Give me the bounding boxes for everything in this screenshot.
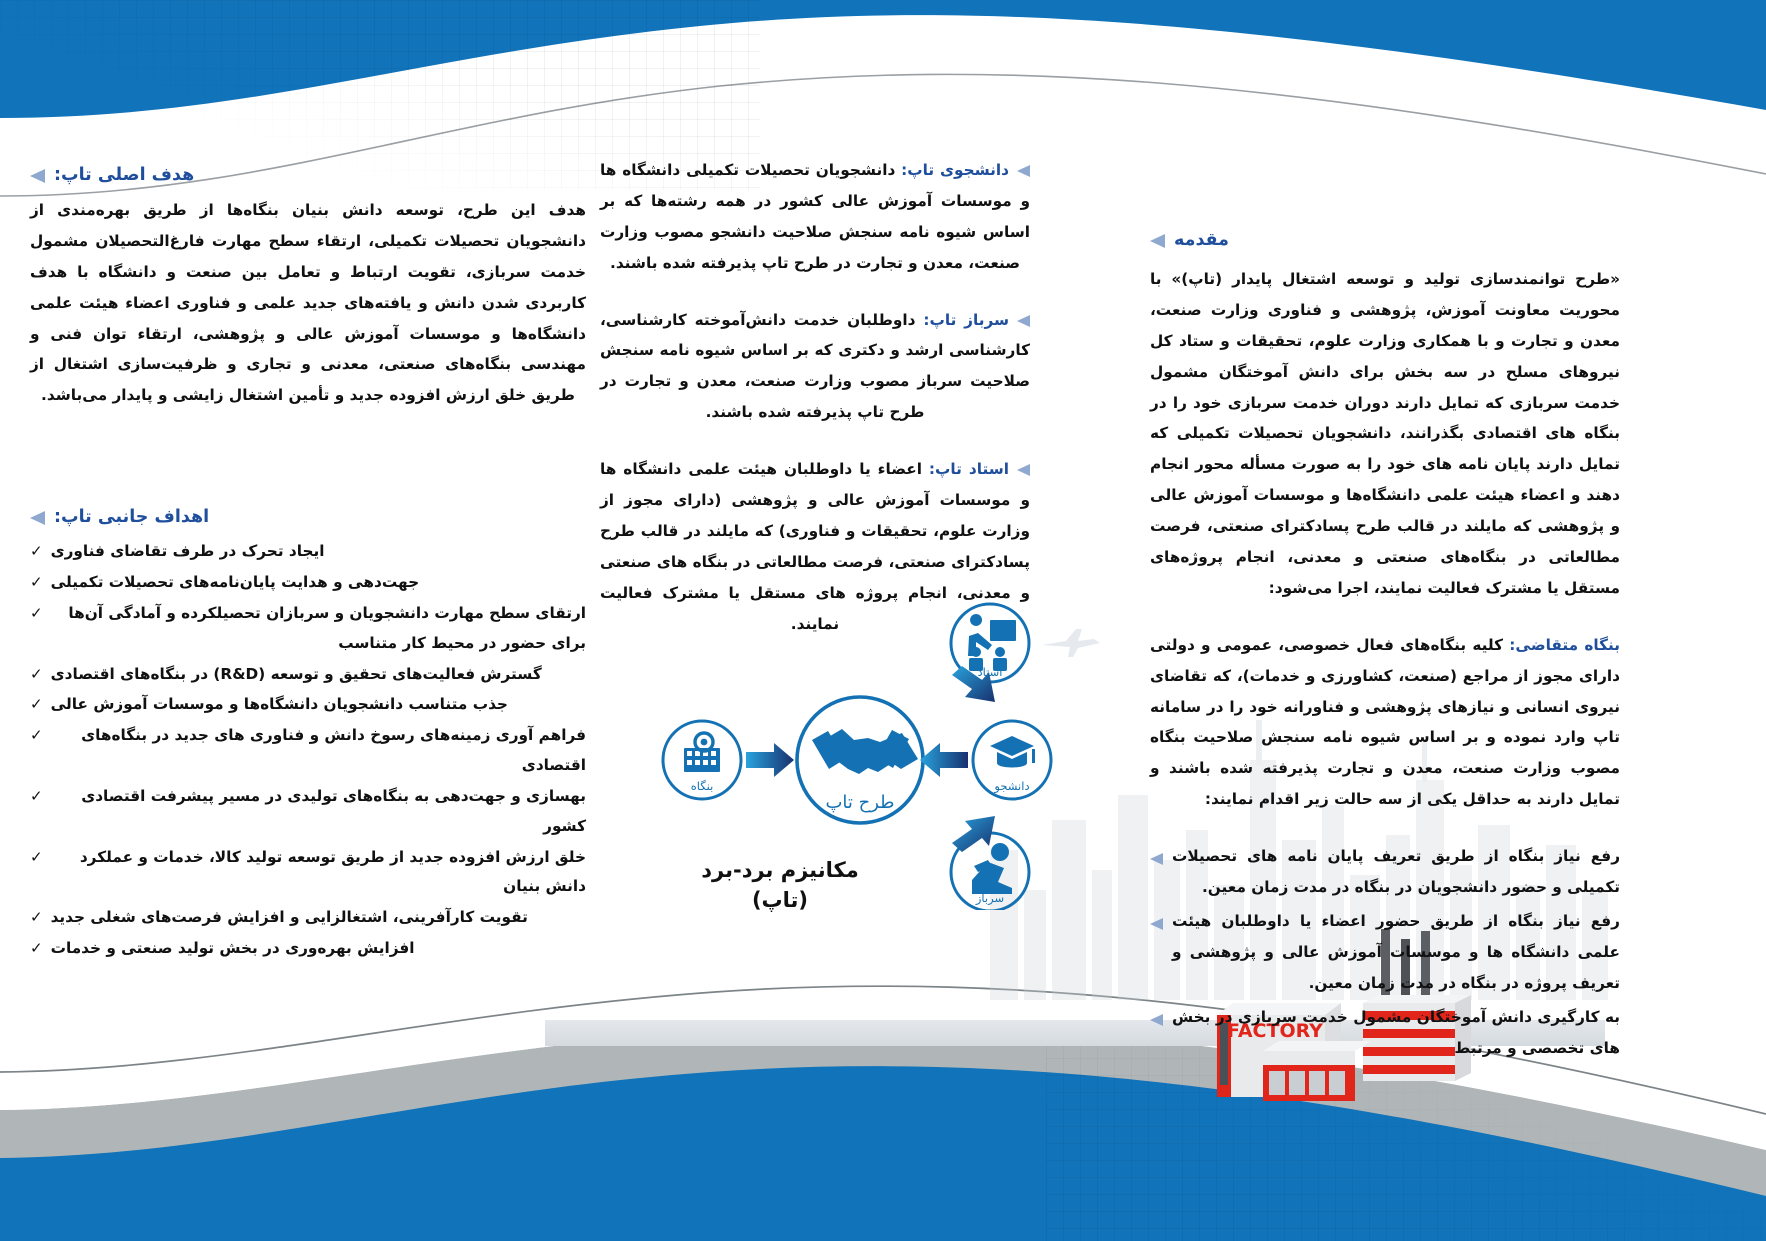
side-goals-list: ✓ ایجاد تحرک در طرف تقاضای فناوری ✓ جهت‌… xyxy=(30,537,586,964)
node-soldier-label: سرباز xyxy=(975,891,1004,906)
soldier-block: سرباز تاپ: داوطلبان خدمت دانش‌آموخته کار… xyxy=(600,305,1030,429)
arrow-bullet-icon xyxy=(30,511,45,525)
middle-column: دانشجوی تاپ: دانشجویان تحصیلات تکمیلی دا… xyxy=(600,155,1030,665)
check-icon: ✓ xyxy=(30,599,43,628)
side-goals-heading: اهداف جانبی تاپ: xyxy=(30,507,586,527)
student-heading: دانشجوی تاپ: xyxy=(901,161,1009,179)
arrow-bullet-icon xyxy=(1017,315,1030,327)
intro-heading-text: مقدمه xyxy=(1174,230,1229,250)
arrow-bullet-icon xyxy=(1017,464,1030,476)
soldier-icon xyxy=(972,843,1012,894)
list-item: رفع نیاز بنگاه از طریق تعریف پایان نامه … xyxy=(1150,841,1620,902)
list-item: به کارگیری دانش آموختگان مشمول خدمت سربا… xyxy=(1150,1002,1620,1063)
list-item: ✓ بهسازی و جهت‌دهی به بنگاه‌های تولیدی د… xyxy=(30,782,586,842)
right-column: مقدمه «طرح توانمندسازی تولید و توسعه اشت… xyxy=(1150,230,1620,1067)
brochure-page: FACTORY هدف اصلی تاپ: هدف این طرح، توسعه… xyxy=(0,0,1766,1241)
professor-heading: استاد تاپ: xyxy=(929,460,1009,478)
student-paragraph: دانشجوی تاپ: دانشجویان تحصیلات تکمیلی دا… xyxy=(600,155,1030,279)
soldier-paragraph: سرباز تاپ: داوطلبان خدمت دانش‌آموخته کار… xyxy=(600,305,1030,429)
node-enterprise-label: بنگاه xyxy=(691,779,714,793)
main-goal-heading-text: هدف اصلی تاپ: xyxy=(54,165,194,185)
applicant-options-list: رفع نیاز بنگاه از طریق تعریف پایان نامه … xyxy=(1150,841,1620,1063)
diagram-caption-line2: (تاپ) xyxy=(655,885,905,915)
list-item: ✓ گسترش فعالیت‌های تحقیق و توسعه (R&D) د… xyxy=(30,660,586,690)
applicant-heading: بنگاه متقاضی: xyxy=(1509,636,1620,654)
list-item: ✓ ارتقای سطح مهارت دانشجویان و سربازان ت… xyxy=(30,599,586,659)
arrow-enterprise-to-center xyxy=(746,743,794,777)
list-item: ✓ فراهم آوری زمینه‌های رسوخ دانش و فناور… xyxy=(30,721,586,781)
side-goals-heading-text: اهداف جانبی تاپ: xyxy=(54,507,209,527)
arrow-bullet-icon xyxy=(1150,853,1163,865)
check-icon: ✓ xyxy=(30,537,43,566)
check-icon: ✓ xyxy=(30,934,43,963)
list-item: رفع نیاز بنگاه از طریق حضور اعضاء یا داو… xyxy=(1150,906,1620,998)
check-icon: ✓ xyxy=(30,782,43,811)
list-item: ✓ ایجاد تحرک در طرف تقاضای فناوری xyxy=(30,537,586,567)
main-goal-heading: هدف اصلی تاپ: xyxy=(30,165,586,185)
intro-heading: مقدمه xyxy=(1150,230,1620,250)
list-item: ✓ تقویت کارآفرینی، اشتغالزایی و افزایش ف… xyxy=(30,903,586,933)
teacher-board-icon xyxy=(968,614,1016,671)
center-node-label: طرح تاپ xyxy=(825,792,894,813)
check-icon: ✓ xyxy=(30,660,43,689)
diagram-caption: مکانیزم برد-برد (تاپ) xyxy=(655,855,905,916)
list-item: ✓ خلق ارزش افزوده جدید از طریق توسعه تول… xyxy=(30,843,586,903)
arrow-soldier-to-center xyxy=(952,816,995,852)
arrow-student-to-center xyxy=(920,743,968,777)
list-item: ✓ جذب متناسب دانشجویان دانشگاه‌ها و موسس… xyxy=(30,690,586,720)
node-professor-label: استاد xyxy=(978,665,1003,679)
intro-paragraph: «طرح توانمندسازی تولید و توسعه اشتغال پا… xyxy=(1150,264,1620,604)
arrow-bullet-icon xyxy=(30,169,45,183)
applicant-paragraph: بنگاه متقاضی: کلیه بنگاه‌های فعال خصوصی،… xyxy=(1150,630,1620,815)
diagram-caption-line1: مکانیزم برد-برد xyxy=(655,855,905,885)
arrow-bullet-icon xyxy=(1150,918,1163,930)
check-icon: ✓ xyxy=(30,568,43,597)
student-block: دانشجوی تاپ: دانشجویان تحصیلات تکمیلی دا… xyxy=(600,155,1030,279)
main-goal-paragraph: هدف این طرح، توسعه دانش بنیان بنگاه‌ها ا… xyxy=(30,195,586,411)
applicant-text: کلیه بنگاه‌های فعال خصوصی، عمومی و دولتی… xyxy=(1150,636,1620,808)
arrow-bullet-icon xyxy=(1017,165,1030,177)
arrow-bullet-icon xyxy=(1150,234,1165,248)
check-icon: ✓ xyxy=(30,903,43,932)
check-icon: ✓ xyxy=(30,843,43,872)
handshake-icon xyxy=(812,729,918,774)
graduation-cap-icon xyxy=(990,736,1035,768)
factory-gear-icon xyxy=(684,733,720,772)
check-icon: ✓ xyxy=(30,690,43,719)
list-item: ✓ جهت‌دهی و هدایت پایان‌نامه‌های تحصیلات… xyxy=(30,568,586,598)
check-icon: ✓ xyxy=(30,721,43,750)
list-item: ✓ افزایش بهره‌وری در بخش تولید صنعتی و خ… xyxy=(30,934,586,964)
arrow-bullet-icon xyxy=(1150,1014,1163,1026)
node-student-label: دانشجو xyxy=(993,779,1029,794)
left-column: هدف اصلی تاپ: هدف این طرح، توسعه دانش بن… xyxy=(30,165,586,965)
soldier-heading: سرباز تاپ: xyxy=(923,311,1009,329)
